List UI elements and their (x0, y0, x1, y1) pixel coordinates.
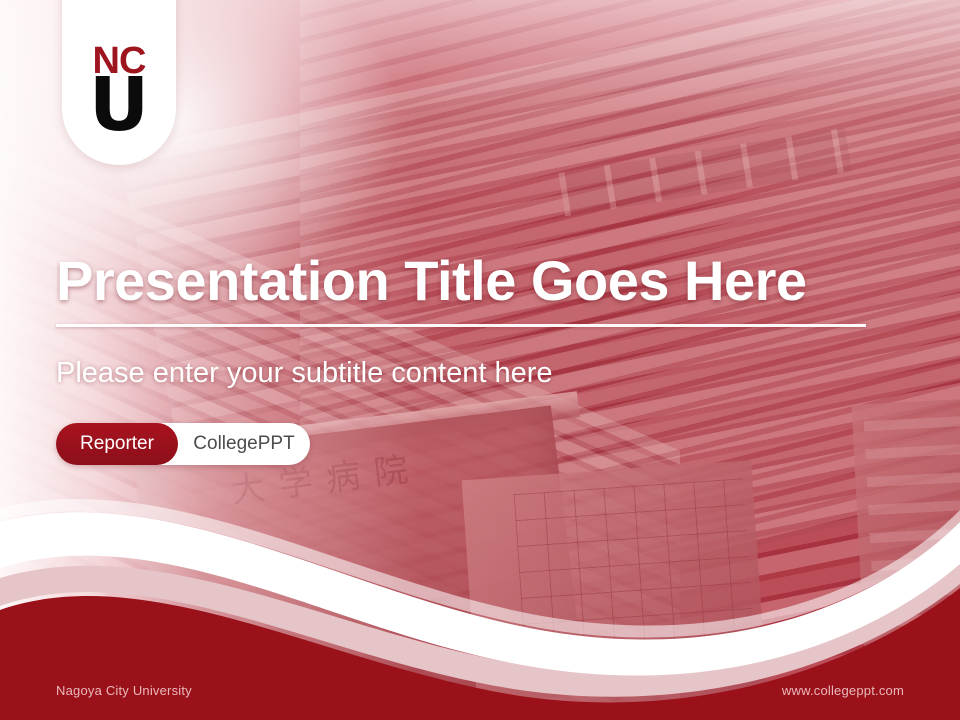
ncu-logo-badge: NC U (62, 0, 176, 165)
presentation-title-slide: 大学病院 NC U Presentation Title Goes Here P… (0, 0, 960, 720)
reporter-label: Reporter (56, 423, 178, 465)
presentation-subtitle[interactable]: Please enter your subtitle content here (56, 354, 553, 392)
wave-footer-graphic (0, 460, 960, 720)
reporter-pill[interactable]: Reporter CollegePPT (56, 423, 310, 465)
footer-website-url[interactable]: www.collegeppt.com (782, 683, 904, 698)
title-divider-rule (56, 324, 866, 327)
logo-u-text: U (62, 68, 176, 142)
footer-university-name: Nagoya City University (56, 683, 192, 698)
reporter-value[interactable]: CollegePPT (178, 423, 310, 465)
presentation-title[interactable]: Presentation Title Goes Here (56, 248, 916, 314)
